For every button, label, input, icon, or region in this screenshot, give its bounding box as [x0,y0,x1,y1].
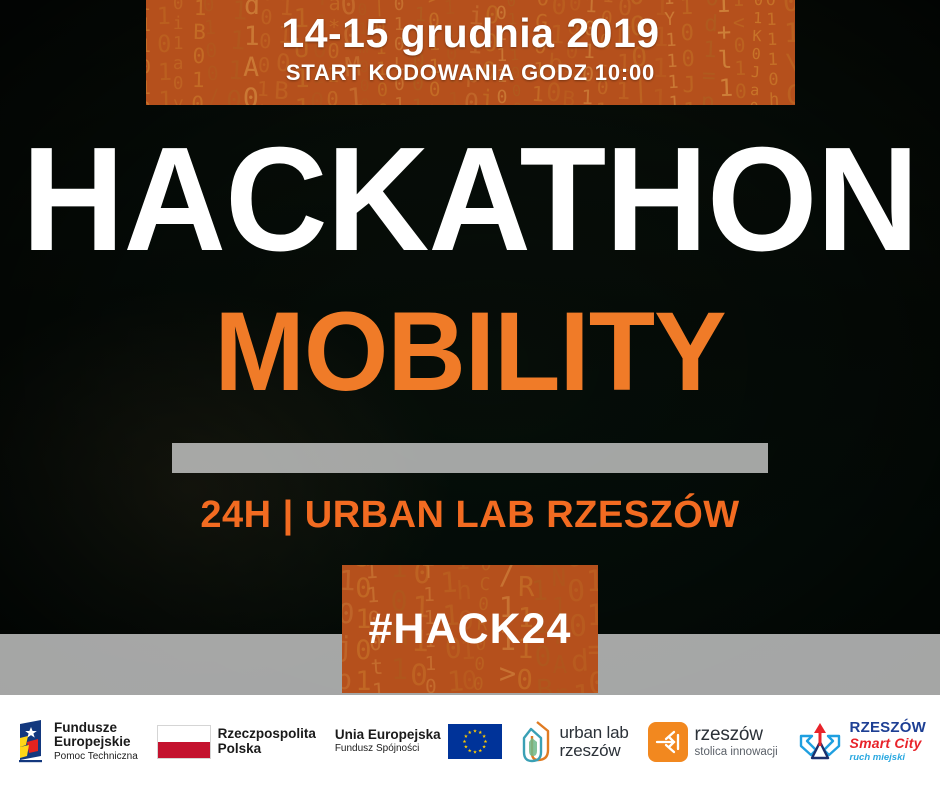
hackathon-poster: 1o0ps001>E010a100100z1p00000a1110011111k… [0,0,940,788]
hashtag-box: M010jbn0gt0J01011r11100t10=110110M1101k0… [342,565,598,693]
logo-line-3: Pomoc Techniczna [54,752,138,763]
logo-line-2: Smart City [850,736,926,751]
sponsor-footer: Fundusze Europejskie Pomoc Techniczna Rz… [0,695,940,788]
logo-urban-lab-rzeszow: urban lab rzeszów [521,719,629,765]
logo-line-2: Europejskie [54,735,138,750]
event-date: 14-15 grudnia 2019 [146,12,795,55]
logo-line-3: ruch miejski [850,753,926,763]
rzeszow-arrows-icon [648,722,688,762]
polish-flag-icon [157,725,211,759]
event-venue: 24H | URBAN LAB RZESZÓW [0,494,940,537]
logo-text-polska: Rzeczpospolita Polska [218,727,316,756]
logo-line-3: Fundusz Spójności [335,744,441,755]
event-hashtag: #HACK24 [342,565,598,693]
logo-line-1: Rzeczpospolita [218,727,316,742]
logo-line-3: stolica innowacji [695,746,778,758]
logo-line-1: Unia Europejska [335,728,441,743]
logo-rzeszow-smart-city: RZESZÓW Smart City ruch miejski [797,720,926,764]
logo-text-unia: Unia Europejska Fundusz Spójności [335,728,441,755]
eu-flag-icon [448,724,502,759]
logo-rzeczpospolita-polska: Rzeczpospolita Polska [157,725,316,759]
smart-city-arrow-icon [797,720,843,764]
urban-lab-drop-icon [521,719,553,765]
logo-line-2: Polska [218,742,316,757]
rzeszow-arrow-glyph [652,726,684,758]
flag-red-stripe [158,742,210,758]
logo-text-smart-city: RZESZÓW Smart City ruch miejski [850,720,926,763]
date-banner: 01il11010110110111000110i1a0y111B010EwY1… [146,0,795,105]
page-subtitle: MOBILITY [14,296,926,408]
event-start-time: START KODOWANIA GODZ 10:00 [146,60,795,86]
logo-fundusze-europejskie: Fundusze Europejskie Pomoc Techniczna [14,720,138,764]
divider-bar [172,443,768,473]
logo-text-fundusze: Fundusze Europejskie Pomoc Techniczna [54,721,138,763]
logo-line-1: urban lab [560,724,629,741]
logo-line-1: RZESZÓW [850,720,926,736]
logo-line-1: rzeszów [695,725,778,746]
logo-line-2: rzeszów [560,742,629,759]
logo-unia-europejska: Unia Europejska Fundusz Spójności [335,724,502,759]
logo-text-rzeszow: rzeszów stolica innowacji [695,725,778,759]
fe-flag-stars-icon [14,720,47,764]
logo-rzeszow-stolica-innowacji: rzeszów stolica innowacji [648,722,778,762]
page-title: HACKATHON [19,126,921,274]
date-banner-content: 14-15 grudnia 2019 START KODOWANIA GODZ … [146,0,795,86]
logo-text-urban-lab: urban lab rzeszów [560,724,629,759]
flag-white-stripe [158,726,210,742]
logo-line-1: Fundusze [54,721,138,736]
